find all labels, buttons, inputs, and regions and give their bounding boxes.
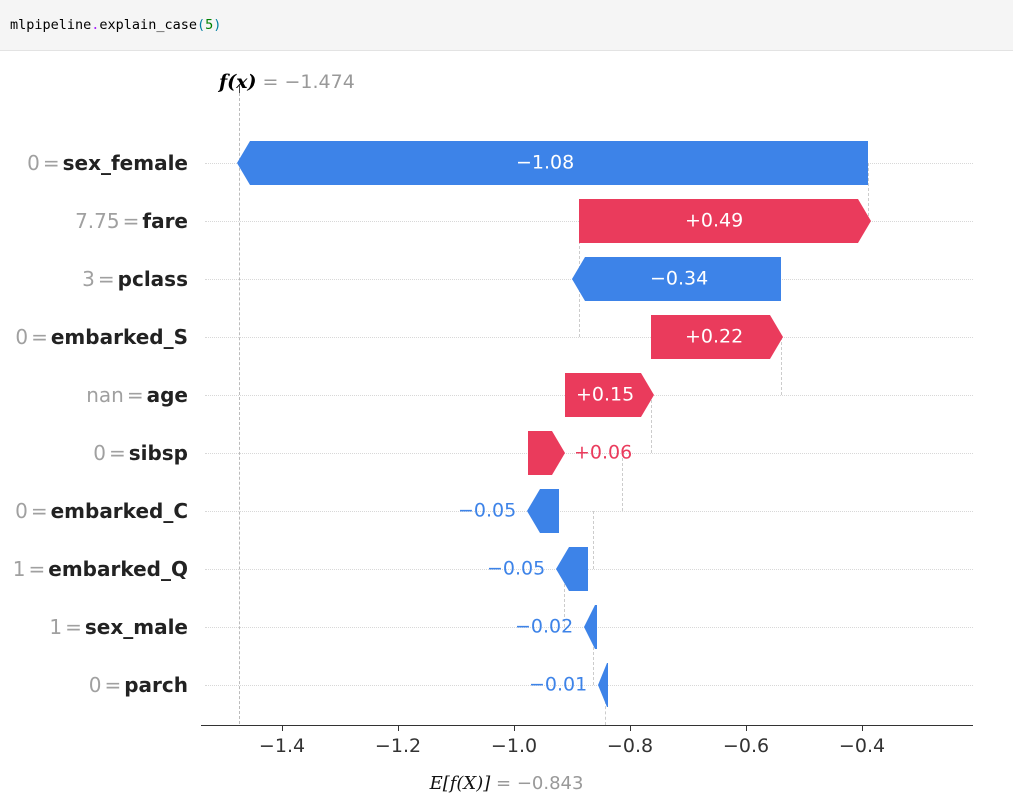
x-axis-tick-label: −0.4 xyxy=(839,735,885,757)
shap-waterfall-plot: f(x) = −1.474 0=sex_female 7.75=fare 3=p… xyxy=(0,51,1013,811)
equals-sign: = xyxy=(106,441,129,465)
feature-value: 3 xyxy=(82,267,95,291)
y-axis-label-age: nan=age xyxy=(86,385,188,405)
gridline xyxy=(205,569,973,570)
feature-name: sex_female xyxy=(63,151,188,175)
feature-value: 0 xyxy=(93,441,106,465)
x-axis-tick xyxy=(862,725,863,731)
feature-value: 0 xyxy=(15,325,28,349)
bar-value-embarked_Q: −0.05 xyxy=(487,560,545,579)
bar-value-sex_female: −1.08 xyxy=(516,154,574,173)
feature-name: embarked_S xyxy=(51,325,188,349)
gridline xyxy=(205,511,973,512)
x-axis-title: E[f(X)] = −0.843 xyxy=(0,773,1013,794)
feature-name: fare xyxy=(142,209,188,233)
equals-sign: = xyxy=(95,267,118,291)
y-axis-label-embarked_S: 0=embarked_S xyxy=(15,327,188,347)
gridline xyxy=(205,685,973,686)
feature-name: embarked_Q xyxy=(48,557,188,581)
y-axis-label-sex_male: 1=sex_male xyxy=(49,617,188,637)
feature-value: 0 xyxy=(15,499,28,523)
x-axis-line xyxy=(201,725,973,726)
equals-sign: = xyxy=(28,325,51,349)
feature-name: sibsp xyxy=(129,441,188,465)
equals-sign: = xyxy=(120,209,143,233)
output-value-guideline xyxy=(239,93,240,724)
code-token-module: mlpipeline xyxy=(10,17,91,33)
equals-sign: = xyxy=(101,673,124,697)
bar-value-sex_male: −0.02 xyxy=(515,618,573,637)
feature-value: 1 xyxy=(49,615,62,639)
equals-sign: = xyxy=(26,557,49,581)
equals-sign: = xyxy=(62,615,85,639)
y-axis-label-parch: 0=parch xyxy=(89,675,188,695)
feature-name: embarked_C xyxy=(51,499,188,523)
equals-sign: = xyxy=(124,383,147,407)
base-value: = −0.843 xyxy=(496,773,583,794)
x-axis-tick xyxy=(746,725,747,731)
y-axis-label-sex_female: 0=sex_female xyxy=(27,153,188,173)
x-axis-tick-label: −1.0 xyxy=(491,735,537,757)
fx-value: = −1.474 xyxy=(263,71,355,93)
base-value-math-label: E[f(X)] xyxy=(430,773,491,794)
code-token-function: explain_case xyxy=(99,17,197,33)
feature-value: nan xyxy=(86,383,124,407)
bar-sibsp[interactable] xyxy=(528,431,565,475)
x-axis-tick xyxy=(398,725,399,731)
bar-value-embarked_S: +0.22 xyxy=(685,328,743,347)
bar-sex_male[interactable] xyxy=(584,605,597,649)
code-cell-source[interactable]: mlpipeline.explain_case(5) xyxy=(10,16,221,34)
x-axis-tick xyxy=(630,725,631,731)
feature-value: 1 xyxy=(13,557,26,581)
x-axis-tick xyxy=(282,725,283,731)
x-axis-tick-label: −1.2 xyxy=(375,735,421,757)
feature-value: 7.75 xyxy=(75,209,120,233)
x-axis-tick-label: −0.8 xyxy=(607,735,653,757)
x-axis-tick xyxy=(514,725,515,731)
equals-sign: = xyxy=(28,499,51,523)
bar-value-fare: +0.49 xyxy=(685,212,743,231)
code-token-open-paren: ( xyxy=(197,17,205,33)
bar-value-pclass: −0.34 xyxy=(650,270,708,289)
equals-sign: = xyxy=(40,151,63,175)
bar-value-parch: −0.01 xyxy=(529,676,587,695)
gridline xyxy=(205,337,973,338)
y-axis-label-embarked_Q: 1=embarked_Q xyxy=(13,559,188,579)
y-axis-label-embarked_C: 0=embarked_C xyxy=(15,501,188,521)
bar-parch[interactable] xyxy=(598,663,608,707)
feature-name: pclass xyxy=(118,267,188,291)
feature-name: parch xyxy=(124,673,188,697)
bar-value-sibsp: +0.06 xyxy=(574,444,632,463)
feature-value: 0 xyxy=(89,673,102,697)
y-axis-label-sibsp: 0=sibsp xyxy=(93,443,188,463)
code-token-close-paren: ) xyxy=(213,17,221,33)
fx-math-label: f(x) xyxy=(219,71,256,93)
feature-name: sex_male xyxy=(85,615,188,639)
bar-embarked_Q[interactable] xyxy=(556,547,588,591)
bar-embarked_C[interactable] xyxy=(527,489,559,533)
bar-value-embarked_C: −0.05 xyxy=(458,502,516,521)
y-axis-label-fare: 7.75=fare xyxy=(75,211,188,231)
y-axis-label-pclass: 3=pclass xyxy=(82,269,188,289)
feature-name: age xyxy=(147,383,188,407)
feature-value: 0 xyxy=(27,151,40,175)
x-axis-tick-label: −1.4 xyxy=(259,735,305,757)
x-axis-tick-label: −0.6 xyxy=(723,735,769,757)
bar-value-age: +0.15 xyxy=(576,386,634,405)
step-guide xyxy=(593,511,594,569)
code-cell[interactable]: mlpipeline.explain_case(5) xyxy=(0,0,1013,51)
